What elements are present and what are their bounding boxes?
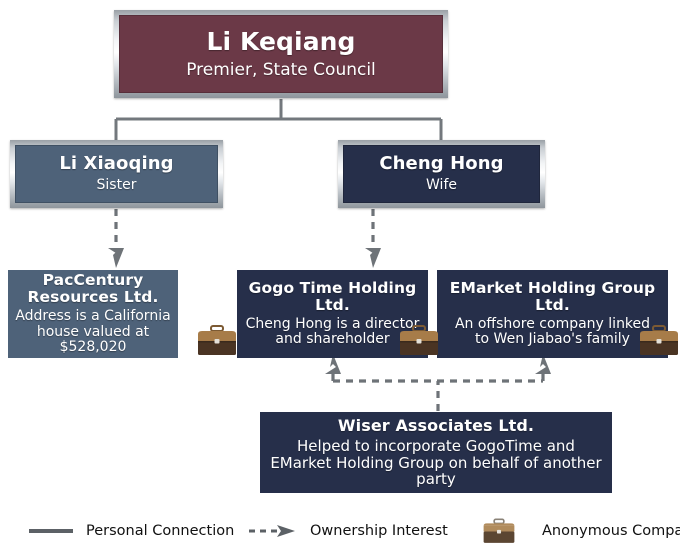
solid-line-icon xyxy=(28,524,74,538)
node-li-keqiang-body: Li Keqiang Premier, State Council xyxy=(119,15,443,93)
briefcase-icon xyxy=(196,325,238,357)
node-paccentury-resources[interactable]: PacCentury Resources Ltd. Address is a C… xyxy=(8,270,178,358)
node-li-xiaoqing-body: Li Xiaoqing Sister xyxy=(15,145,218,203)
node-emarket-holding-group[interactable]: EMarket Holding Group Ltd. An offshore c… xyxy=(437,270,668,358)
node-cheng-hong[interactable]: Cheng Hong Wife xyxy=(338,140,545,208)
node-paccentury-body: PacCentury Resources Ltd. Address is a C… xyxy=(8,270,178,358)
legend-label-personal-connection: Personal Connection xyxy=(86,523,234,539)
node-li-keqiang-subtitle: Premier, State Council xyxy=(186,61,376,80)
legend-item-ownership-interest: Ownership Interest xyxy=(248,516,448,546)
edge-ownership-arrowheads xyxy=(108,248,381,268)
node-wiser-subtitle-line2: EMarket Holding Group on behalf of anoth… xyxy=(260,455,612,489)
node-wiser-body: Wiser Associates Ltd. Helped to incorpor… xyxy=(260,412,612,493)
node-paccentury-title: PacCentury Resources Ltd. xyxy=(8,272,178,307)
node-li-xiaoqing-title: Li Xiaoqing xyxy=(59,154,173,174)
node-gogo-time-subtitle-line2: and shareholder xyxy=(275,332,389,348)
node-paccentury-subtitle-line1: Address is a California xyxy=(15,309,170,325)
node-gogo-time-title: Gogo Time Holding Ltd. xyxy=(237,280,428,315)
node-li-xiaoqing-subtitle: Sister xyxy=(97,178,137,194)
node-li-keqiang[interactable]: Li Keqiang Premier, State Council xyxy=(114,10,448,98)
arrowhead-gogotime xyxy=(365,248,381,268)
node-wiser-associates[interactable]: Wiser Associates Ltd. Helped to incorpor… xyxy=(260,412,612,493)
node-cheng-hong-title: Cheng Hong xyxy=(379,154,503,174)
node-emarket-body: EMarket Holding Group Ltd. An offshore c… xyxy=(437,270,668,358)
node-paccentury-subtitle-line2: house valued at $528,020 xyxy=(8,325,178,356)
node-emarket-subtitle-line1: An offshore company linked xyxy=(455,317,650,333)
arrowhead-paccentury xyxy=(108,248,124,268)
node-gogo-time-subtitle-line1: Cheng Hong is a director xyxy=(246,317,420,333)
node-cheng-hong-subtitle: Wife xyxy=(426,178,457,194)
node-li-keqiang-title: Li Keqiang xyxy=(206,28,355,56)
node-li-xiaoqing[interactable]: Li Xiaoqing Sister xyxy=(10,140,223,208)
legend-item-anonymous-company: Anonymous Company xyxy=(482,516,680,546)
relationship-diagram: Li Keqiang Premier, State Council Li Xia… xyxy=(0,0,680,555)
legend-label-anonymous-company: Anonymous Company xyxy=(542,523,680,539)
node-emarket-title: EMarket Holding Group Ltd. xyxy=(437,280,668,315)
dashed-arrow-icon xyxy=(248,524,296,538)
legend-item-personal-connection: Personal Connection xyxy=(28,516,234,546)
legend: Personal Connection Ownership Interest A… xyxy=(0,508,680,555)
briefcase-icon xyxy=(398,325,440,357)
node-emarket-subtitle-line2: to Wen Jiabao's family xyxy=(475,332,630,348)
node-wiser-subtitle-line1: Helped to incorporate GogoTime and xyxy=(297,438,575,455)
briefcase-icon xyxy=(638,325,680,357)
edge-wiser-ownership xyxy=(333,372,543,411)
node-wiser-title: Wiser Associates Ltd. xyxy=(338,417,534,435)
node-cheng-hong-body: Cheng Hong Wife xyxy=(343,145,540,203)
briefcase-icon xyxy=(482,518,516,545)
legend-label-ownership-interest: Ownership Interest xyxy=(310,523,448,539)
edge-personal-connections xyxy=(116,99,441,141)
edge-ownership-downward xyxy=(116,209,373,250)
